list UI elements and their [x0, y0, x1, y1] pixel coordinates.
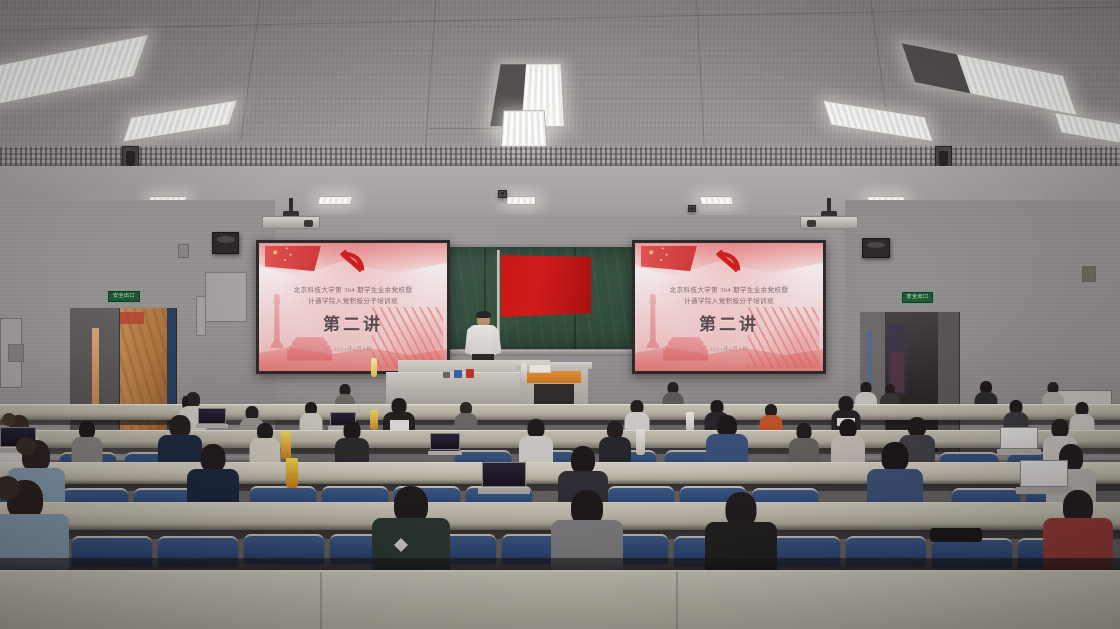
right-projection-screen: 北京科技大学第 364 期学生业余党校暨 计通学院入党积极分子培训班 第二讲 2…: [632, 240, 826, 374]
ceiling-light-panel: [501, 110, 548, 148]
slide-red-flag-graphic: [265, 246, 321, 272]
seating-row: [0, 480, 1120, 570]
wall-speaker: [212, 232, 239, 254]
wall-access-panel: [196, 296, 206, 336]
ceiling-speaker: [688, 205, 696, 212]
ceiling-light-panel: [506, 196, 536, 205]
wall-speaker: [862, 238, 890, 258]
slide-date: 2021年6月3日: [259, 345, 447, 353]
exit-sign: 安全出口: [108, 291, 140, 302]
slide-line-2: 计通学院入党积极分子培训班: [259, 295, 447, 305]
ceiling: [0, 0, 1120, 232]
cpc-party-flag: [501, 255, 591, 317]
cup: [466, 369, 474, 378]
ceiling-projector: [262, 198, 320, 232]
presenter-hair: [476, 311, 491, 318]
tissue-box: [529, 364, 551, 373]
slide-red-flag-graphic: [641, 246, 697, 272]
ceiling-light-panel: [317, 196, 353, 205]
lecture-hall-photo: 安全出口 安全出口: [0, 0, 1120, 629]
phone[interactable]: [930, 528, 982, 542]
ceiling-light-panel: [699, 196, 734, 205]
cup: [454, 370, 462, 378]
slide-title: 第二讲: [635, 310, 823, 335]
left-projection-screen: 北京科技大学第 364 期学生业余党校暨 计通学院入党积极分子培训班 第二讲 2…: [256, 240, 450, 374]
slide-line-2: 计通学院入党积极分子培训班: [635, 295, 823, 305]
wall-fixture: [178, 244, 189, 258]
exit-sign: 安全出口: [902, 292, 933, 303]
wall-access-panel: [205, 272, 247, 322]
water-bottle: [371, 358, 377, 377]
wall-cabinet: [8, 344, 24, 362]
ceiling-projector: [800, 198, 858, 232]
slide-date: 2021年6月3日: [635, 345, 823, 353]
ceiling-speaker: [498, 190, 507, 198]
ceiling-acoustic-beam: [0, 146, 1120, 166]
hammer-and-sickle-icon: [714, 247, 744, 275]
wall-fixture: [1082, 266, 1096, 282]
foreground-desk: [0, 570, 1120, 629]
slide-title: 第二讲: [259, 310, 447, 335]
audience-person: [0, 480, 60, 570]
hammer-and-sickle-icon: [338, 247, 368, 275]
slide-line-1: 北京科技大学第 364 期学生业余党校暨: [635, 284, 823, 294]
slide-line-1: 北京科技大学第 364 期学生业余党校暨: [259, 284, 447, 294]
